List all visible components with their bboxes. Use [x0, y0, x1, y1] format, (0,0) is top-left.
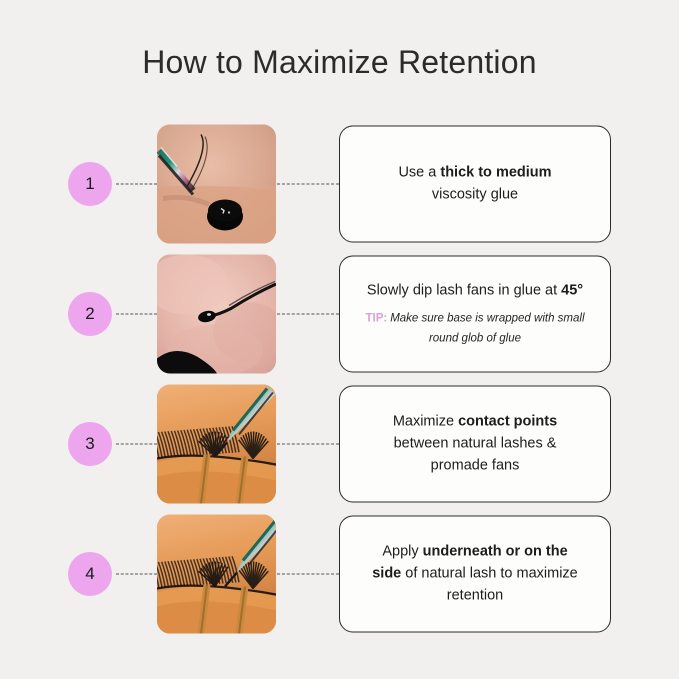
- page-title: How to Maximize Retention: [0, 44, 679, 81]
- tip-text: Make sure base is wrapped with small rou…: [390, 313, 584, 344]
- instruction-line: viscosity glue: [432, 184, 518, 206]
- connector-dashed-line-left: [116, 313, 157, 314]
- connector-dashed-line-right: [277, 183, 339, 184]
- instruction-emphasis: contact points: [458, 413, 557, 429]
- instruction-text: Slowly dip lash fans in glue at: [367, 283, 561, 299]
- instruction-line: promade fans: [431, 455, 520, 477]
- steps-list: 1: [0, 124, 679, 644]
- instruction-line: Maximize contact points: [393, 410, 557, 432]
- instruction-card-2: Slowly dip lash fans in glue at 45°TIP:M…: [339, 255, 611, 372]
- step-row-2: 2: [0, 254, 679, 373]
- instruction-text: between natural lashes &: [394, 435, 557, 451]
- instruction-card-4: Apply underneath or on theside of natura…: [339, 515, 611, 632]
- step-number-badge-1: 1: [68, 162, 112, 206]
- instruction-text: Use a: [398, 164, 440, 180]
- instruction-text: promade fans: [431, 458, 520, 474]
- instruction-line: retention: [447, 585, 503, 607]
- instruction-text: Apply: [382, 543, 422, 559]
- instruction-emphasis: thick to medium: [440, 164, 551, 180]
- applying-promade-fan-under-natural-lash: [157, 514, 276, 633]
- connector-dashed-line-right: [277, 443, 339, 444]
- instruction-emphasis: underneath or on the: [423, 543, 568, 559]
- connector-dashed-line-right: [277, 573, 339, 574]
- instruction-emphasis: side: [372, 565, 401, 581]
- step-number-label: 2: [68, 292, 112, 336]
- instruction-text: Maximize: [393, 413, 458, 429]
- tweezers-holding-lash-with-glue-drop-on-skin: [157, 124, 276, 243]
- infographic-page: How to Maximize Retention 1: [0, 0, 679, 679]
- lash-fan-dipped-in-glue-glob: [157, 254, 276, 373]
- step-number-badge-2: 2: [68, 292, 112, 336]
- instruction-text: viscosity glue: [432, 187, 518, 203]
- tweezers-isolating-lash-extensions-fan: [157, 384, 276, 503]
- instruction-line: Slowly dip lash fans in glue at 45°: [367, 280, 583, 302]
- connector-dashed-line-left: [116, 573, 157, 574]
- step-row-1: 1: [0, 124, 679, 243]
- instruction-line: between natural lashes &: [394, 432, 557, 454]
- instruction-card-1: Use a thick to mediumviscosity glue: [339, 125, 611, 242]
- connector-dashed-line-left: [116, 443, 157, 444]
- instruction-emphasis: 45°: [561, 283, 583, 299]
- step-number-label: 4: [68, 552, 112, 596]
- tip-label: TIP:: [365, 313, 387, 325]
- instruction-text: of natural lash to maximize: [401, 565, 578, 581]
- step-row-4: 4: [0, 514, 679, 633]
- step-number-label: 3: [68, 422, 112, 466]
- step-row-3: 3: [0, 384, 679, 503]
- instruction-line: side of natural lash to maximize: [372, 562, 578, 584]
- instruction-card-3: Maximize contact pointsbetween natural l…: [339, 385, 611, 502]
- step-number-label: 1: [68, 162, 112, 206]
- tip-block: TIP:Make sure base is wrapped with small…: [356, 309, 594, 348]
- instruction-text: retention: [447, 588, 503, 604]
- step-number-badge-3: 3: [68, 422, 112, 466]
- connector-dashed-line-left: [116, 183, 157, 184]
- connector-dashed-line-right: [277, 313, 339, 314]
- instruction-line: Use a thick to medium: [398, 161, 551, 183]
- step-number-badge-4: 4: [68, 552, 112, 596]
- instruction-line: Apply underneath or on the: [382, 540, 567, 562]
